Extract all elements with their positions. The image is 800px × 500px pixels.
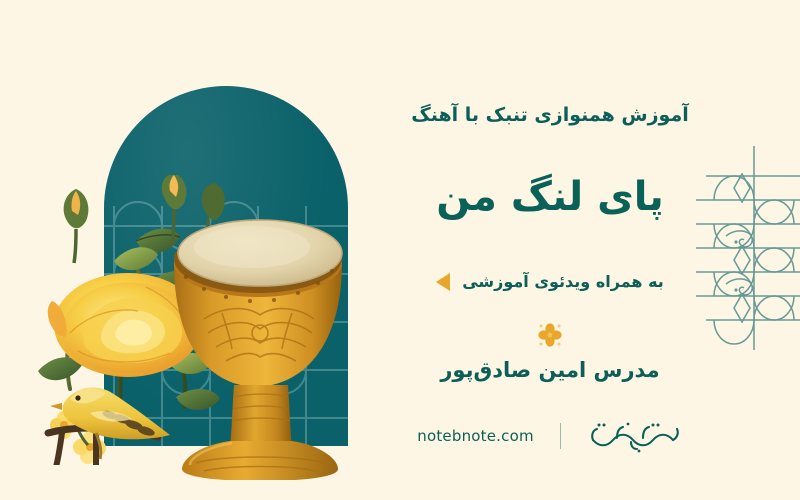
text-column: آموزش همنوازی تنبک با آهنگ پای لنگ من به… <box>380 0 720 500</box>
instructor-name: مدرس امین صادق‌پور <box>380 358 720 382</box>
tombak-drum <box>160 215 370 480</box>
brand-separator <box>560 423 561 449</box>
quatrefoil-flower-icon <box>380 318 720 352</box>
course-promo-banner: آموزش همنوازی تنبک با آهنگ پای لنگ من به… <box>0 0 800 500</box>
play-triangle-icon <box>436 273 450 291</box>
rose-bud <box>64 189 89 263</box>
song-title: پای لنگ من <box>380 172 720 222</box>
video-availability-row: به همراه ویدئوی آموزشی <box>380 272 720 291</box>
course-eyebrow-text: آموزش همنوازی تنبک با آهنگ <box>380 104 720 127</box>
website-url: notebnote.com <box>417 427 534 445</box>
notebnote-logo: نت به نت <box>587 418 683 454</box>
brand-footer: نت به نت notebnote.com <box>380 418 720 454</box>
video-availability-label: به همراه ویدئوی آموزشی <box>462 272 664 291</box>
artwork-panel <box>0 0 380 500</box>
